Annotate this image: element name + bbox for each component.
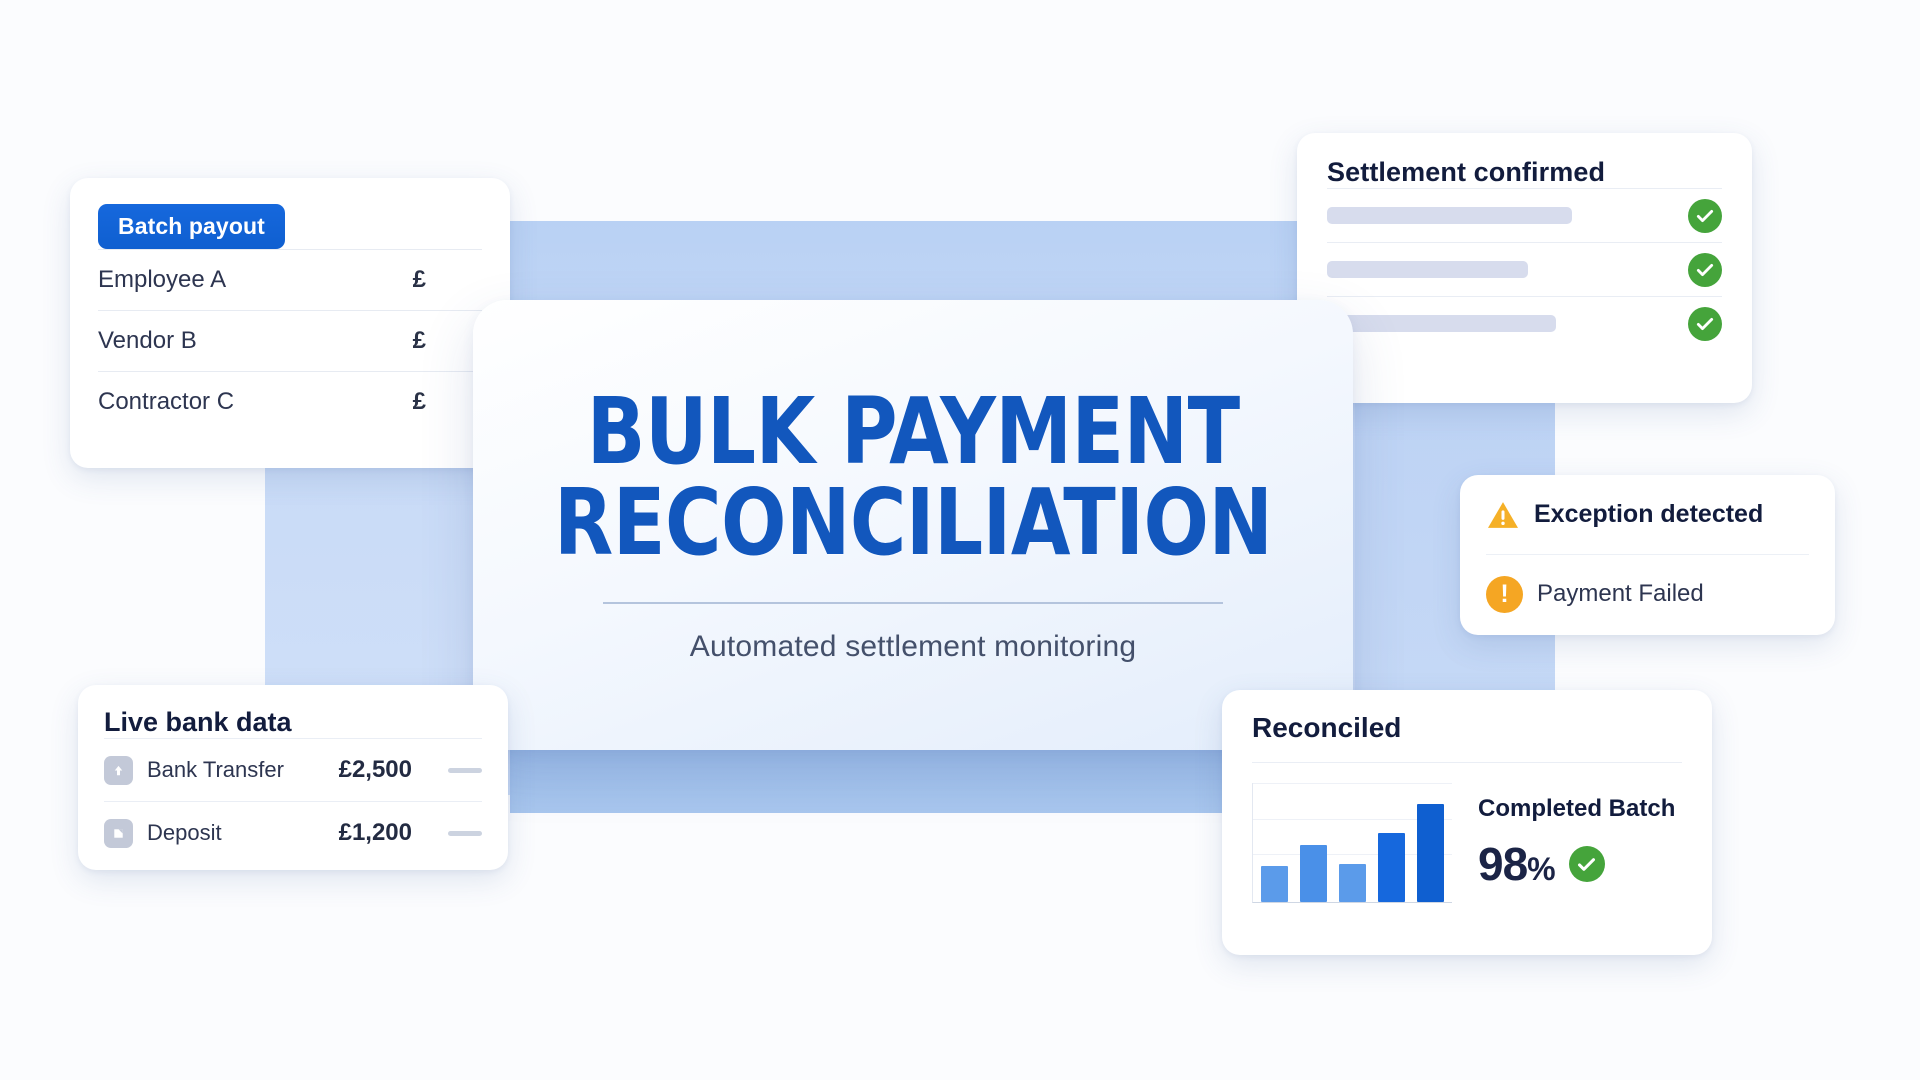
bank-row[interactable]: Bank Transfer £2,500 bbox=[104, 738, 482, 801]
bank-row-dash bbox=[448, 831, 482, 836]
live-bank-data-title: Live bank data bbox=[104, 707, 482, 738]
check-circle-icon bbox=[1569, 846, 1605, 882]
bank-row-amount: £2,500 bbox=[339, 756, 412, 784]
live-bank-data-card: Live bank data Bank Transfer £2,500 Depo… bbox=[78, 685, 508, 870]
payout-row[interactable]: Vendor B £ bbox=[98, 310, 482, 371]
payout-name: Contractor C bbox=[98, 388, 234, 416]
reconciled-metric-value-row: 98% bbox=[1478, 837, 1675, 891]
bank-row-name: Deposit bbox=[147, 820, 325, 846]
reconciled-percent: 98% bbox=[1478, 837, 1555, 891]
warning-triangle-icon bbox=[1486, 500, 1520, 530]
hero-title-card: BULK PAYMENT RECONCILIATION Automated se… bbox=[473, 300, 1353, 750]
chart-bar bbox=[1261, 866, 1288, 902]
hero-subtitle: Automated settlement monitoring bbox=[690, 630, 1136, 664]
poster-canvas: Batch payout Employee A £ Vendor B £ Con… bbox=[0, 0, 1920, 1080]
reconciled-bar-chart bbox=[1252, 783, 1452, 903]
bank-row-amount: £1,200 bbox=[339, 819, 412, 847]
exclamation-circle-icon: ! bbox=[1486, 576, 1523, 613]
reconciled-body: Completed Batch 98% bbox=[1252, 762, 1682, 903]
payout-name: Vendor B bbox=[98, 327, 197, 355]
reconciled-metric-label: Completed Batch bbox=[1478, 795, 1675, 823]
payout-name: Employee A bbox=[98, 266, 226, 294]
page-title: BULK PAYMENT RECONCILIATION bbox=[554, 386, 1272, 568]
exception-item-label: Payment Failed bbox=[1537, 580, 1704, 608]
check-circle-icon bbox=[1688, 199, 1722, 233]
settlement-row[interactable] bbox=[1327, 242, 1722, 296]
payout-row[interactable]: Contractor C £ bbox=[98, 371, 482, 432]
payout-currency: £ bbox=[413, 327, 482, 355]
reconciled-title: Reconciled bbox=[1252, 712, 1682, 744]
deposit-square-icon bbox=[104, 819, 133, 848]
bank-row-name: Bank Transfer bbox=[147, 757, 325, 783]
check-circle-icon bbox=[1688, 307, 1722, 341]
bank-row-dash bbox=[448, 768, 482, 773]
bank-row[interactable]: Deposit £1,200 bbox=[104, 801, 482, 864]
settlement-title: Settlement confirmed bbox=[1327, 157, 1722, 188]
payout-currency: £ bbox=[413, 388, 482, 416]
hero-divider bbox=[603, 602, 1223, 604]
batch-payout-pill[interactable]: Batch payout bbox=[98, 204, 285, 249]
chart-bar bbox=[1300, 845, 1327, 902]
check-circle-icon bbox=[1688, 253, 1722, 287]
chart-bar bbox=[1417, 804, 1444, 902]
payout-currency: £ bbox=[413, 266, 482, 294]
reconciled-card: Reconciled Completed Batch 98% bbox=[1222, 690, 1712, 955]
exception-title: Exception detected bbox=[1534, 500, 1763, 529]
settlement-row[interactable] bbox=[1327, 188, 1722, 242]
chart-bar bbox=[1339, 864, 1366, 902]
settlement-confirmed-card: Settlement confirmed bbox=[1297, 133, 1752, 403]
reconciled-percent-unit: % bbox=[1527, 851, 1554, 887]
settlement-row[interactable] bbox=[1327, 296, 1722, 350]
chart-bar bbox=[1378, 833, 1405, 902]
hero-title-line2: RECONCILIATION bbox=[554, 477, 1272, 568]
skeleton-bar bbox=[1327, 207, 1572, 224]
skeleton-bar bbox=[1327, 315, 1556, 332]
batch-payout-card: Batch payout Employee A £ Vendor B £ Con… bbox=[70, 178, 510, 468]
reconciled-metric: Completed Batch 98% bbox=[1478, 795, 1675, 891]
payout-row[interactable]: Employee A £ bbox=[98, 249, 482, 310]
exception-header-row: Exception detected bbox=[1486, 475, 1809, 554]
exception-detected-card: Exception detected ! Payment Failed bbox=[1460, 475, 1835, 635]
reconciled-percent-number: 98 bbox=[1478, 838, 1527, 890]
arrow-up-square-icon bbox=[104, 756, 133, 785]
chart-bars bbox=[1261, 783, 1444, 902]
exception-item-row[interactable]: ! Payment Failed bbox=[1486, 554, 1809, 633]
skeleton-bar bbox=[1327, 261, 1528, 278]
